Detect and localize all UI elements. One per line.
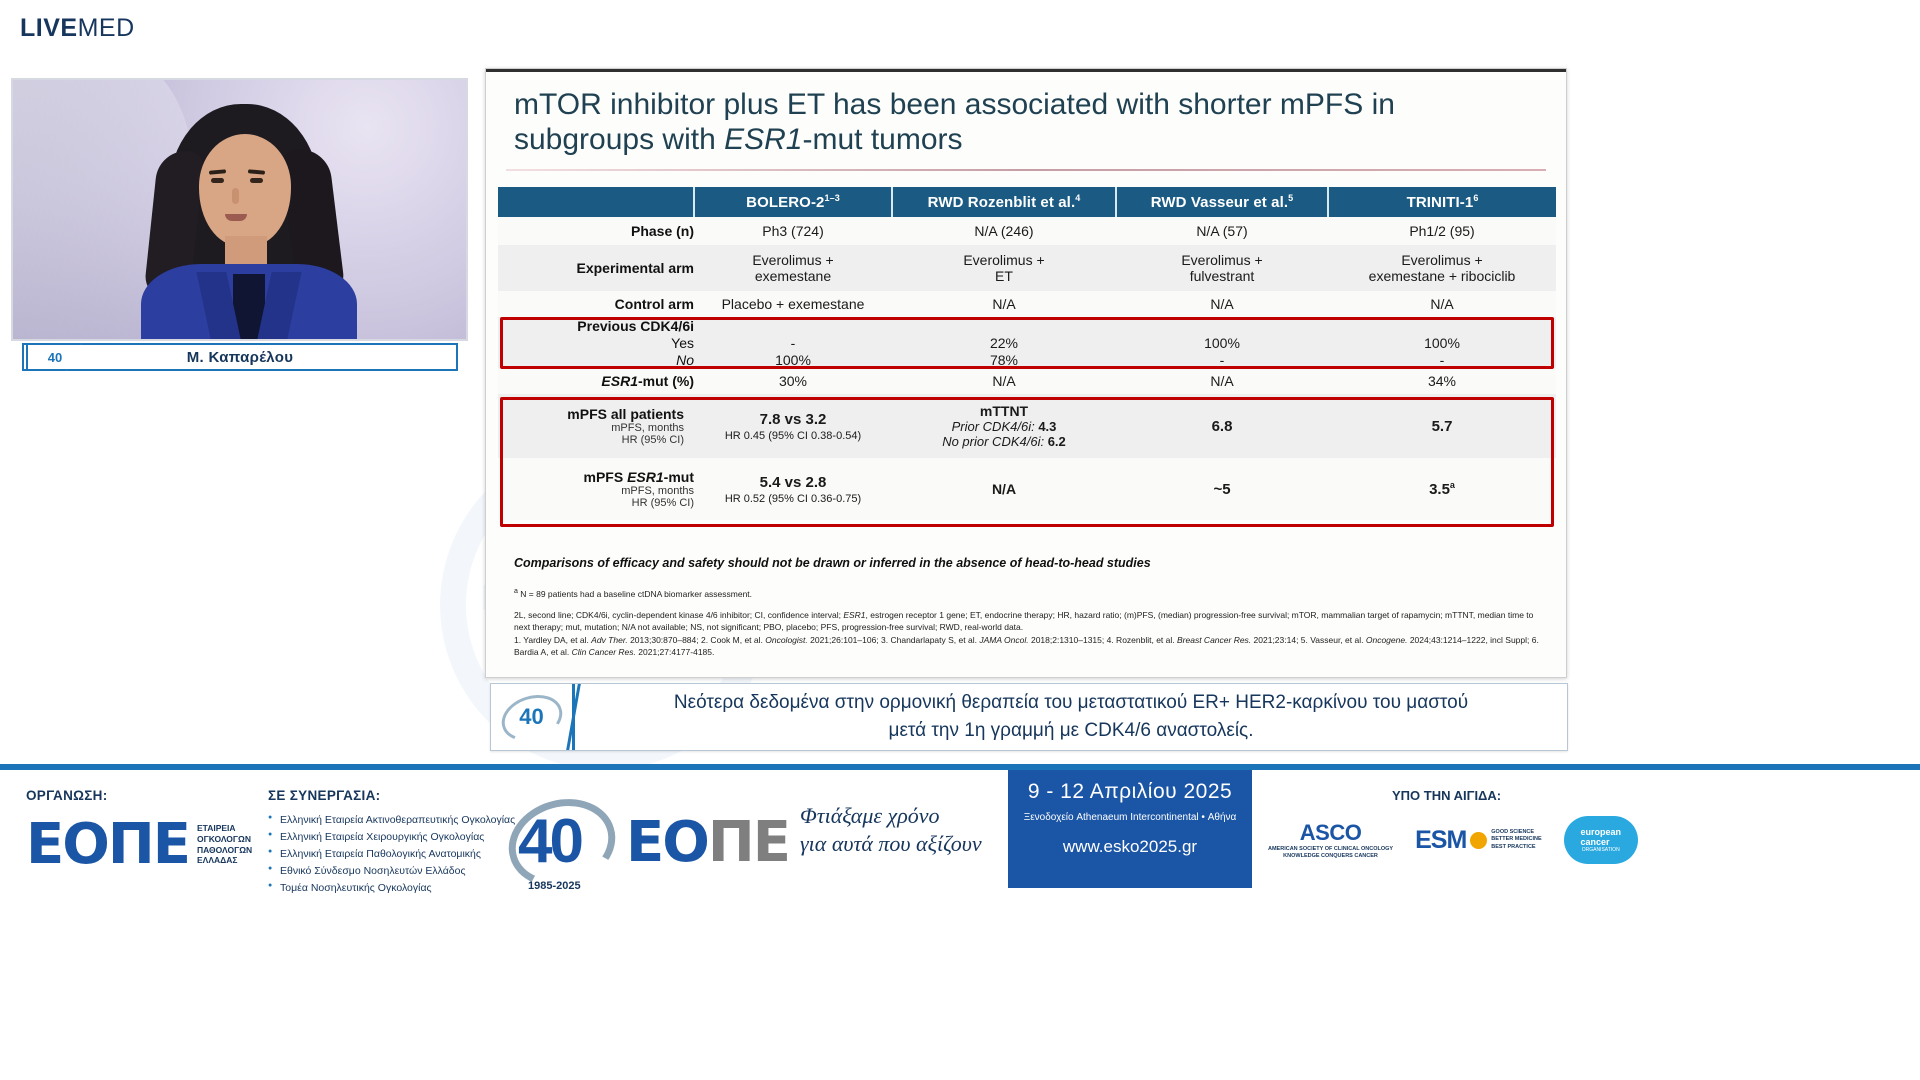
table-row-control-arm: Control arm Placebo + exemestane N/A N/A… (498, 291, 1556, 317)
caption-badge-icon: 40 (491, 684, 575, 750)
mpfs-esr1-rozenblit: N/A (892, 458, 1116, 520)
congress-url[interactable]: www.esko2025.gr (1016, 837, 1244, 857)
row-label-cdk-yes: Yes (498, 334, 694, 351)
asco-logo-name: ASCO (1268, 820, 1393, 846)
mpfs-all-sub1: mPFS, months (498, 422, 684, 434)
header-vasseur-label: RWD Vasseur et al. (1151, 194, 1288, 211)
cdk-yes-vasseur: 100% (1116, 334, 1328, 351)
footnote-a: a N = 89 patients had a baseline ctDNA b… (514, 587, 1548, 600)
ref-5-journal: Oncogene. (1366, 635, 1408, 645)
header-rozenblit-sup: 4 (1075, 193, 1080, 203)
congress-logo-name-eo: ΕΟ (626, 810, 708, 875)
exparm-rozenblit: Everolimus + ET (892, 245, 1116, 291)
slide-title-line2-pre: subgroups with (514, 123, 724, 156)
row-label-control-arm: Control arm (498, 291, 694, 317)
mpfs-all-bolero2-hr: HR 0.45 (95% CI 0.38-0.54) (694, 430, 892, 442)
cdk-yes-triniti1: 100% (1328, 334, 1556, 351)
caption-line1: Νεότερα δεδομένα στην ορμονική θεραπεία … (674, 692, 1468, 713)
table-row-phase: Phase (n) Ph3 (724) N/A (246) N/A (57) P… (498, 217, 1556, 245)
exparm-triniti1: Everolimus + exemestane + ribociclib (1328, 245, 1556, 291)
footer-slogan-line2: για αυτά που αξίζουν (800, 830, 1010, 858)
phase-vasseur: N/A (57) (1116, 217, 1328, 245)
ref-1-author: 1. Yardley DA, et al. (514, 635, 591, 645)
ref-4-cite: 2021;23:14; 5. Vasseur, et al. (1251, 635, 1363, 645)
exparm-vasseur: Everolimus + fulvestrant (1116, 245, 1328, 291)
cdk-yes-rozenblit: 22% (892, 334, 1116, 351)
row-label-phase: Phase (n) (498, 217, 694, 245)
eope-sub-3: ΠΑΘΟΛΟΓΩΝ (197, 845, 252, 856)
footer-aegis-logos: ASCO AMERICAN SOCIETY OF CLINICAL ONCOLO… (1268, 816, 1638, 864)
row-label-esr1-mut-pct: ESR1-mut (%) (498, 368, 694, 394)
cdk-title-spacer-4 (1328, 317, 1556, 334)
table-row-experimental-arm: Experimental arm Everolimus + exemestane… (498, 245, 1556, 291)
congress-logo-name: ΕΟΠΕ (626, 810, 789, 875)
mpfs-esr1-vasseur: ~5 (1116, 458, 1328, 520)
livemed-logo-live: LIVE (20, 14, 78, 42)
header-rozenblit: RWD Rozenblit et al.4 (892, 187, 1116, 217)
ctrlarm-bolero2: Placebo + exemestane (694, 291, 892, 317)
caption-badge-number: 40 (519, 704, 543, 730)
ref-4-journal: Breast Cancer Res. (1177, 635, 1251, 645)
ref-1-cite: 2013;30:870–884; 2. Cook M, et al. (628, 635, 766, 645)
footer-cooperation-list: Ελληνική Εταιρεία Ακτινοθεραπευτικής Ογκ… (268, 812, 515, 897)
esmo-logo-name: ESM (1415, 826, 1466, 855)
speaker-name: Μ. Καπαρέλου (187, 349, 294, 366)
mpfs-all-rozenblit: mTTNT Prior CDK4/6i: 4.3 No prior CDK4/6… (892, 394, 1116, 458)
comparison-table: BOLERO-21–3 RWD Rozenblit et al.4 RWD Va… (498, 187, 1556, 520)
ref-3-cite: 2018;2:1310–1315; 4. Rozenblit, et al. (1029, 635, 1177, 645)
eope-logo: ΕΟΠΕ ΕΤΑΙΡΕΙΑ ΟΓΚΟΛΟΓΩΝ ΠΑΘΟΛΟΓΩΝ ΕΛΛΑΔΑ… (26, 812, 252, 877)
slide-title-gene: ESR1 (724, 123, 802, 156)
speaker-figure (133, 104, 363, 341)
title-divider (506, 169, 1546, 171)
table-header-row: BOLERO-21–3 RWD Rozenblit et al.4 RWD Va… (498, 187, 1556, 217)
header-triniti1-sup: 6 (1473, 193, 1478, 203)
mpfs-esr1-sub1: mPFS, months (498, 485, 694, 497)
cdk-no-vasseur: - (1116, 351, 1328, 368)
mpfs-all-sub2: HR (95% CI) (498, 434, 684, 446)
congress-logo-number: 40 (518, 806, 581, 877)
eco-logo-subtitle: ORGANISATION (1582, 847, 1620, 853)
congress-date-box: 9 - 12 Απριλίου 2025 Ξενοδοχείο Athenaeu… (1008, 770, 1252, 888)
livemed-logo: LIVEMED (20, 14, 135, 43)
livemed-logo-med: MED (78, 14, 135, 42)
mpfs-esr1-bolero2: 5.4 vs 2.8 HR 0.52 (95% CI 0.36-0.75) (694, 458, 892, 520)
mpfs-all-triniti1: 5.7 (1328, 394, 1556, 458)
cdk-title-spacer-2 (892, 317, 1116, 334)
table-row-cdk-yes: Yes - 22% 100% 100% (498, 334, 1556, 351)
presentation-slide[interactable]: mTOR inhibitor plus ET has been associat… (485, 68, 1567, 678)
mpfs-all-bolero2-main: 7.8 vs 3.2 (694, 411, 892, 428)
mpfs-all-rozenblit-prior-label: Prior CDK4/6i: (952, 419, 1035, 434)
cdk-no-triniti1: - (1328, 351, 1556, 368)
mpfs-esr1-bolero2-hr: HR 0.52 (95% CI 0.36-0.75) (694, 493, 892, 505)
coop-item: Ελληνική Εταιρεία Χειρουργικής Ογκολογία… (268, 829, 515, 846)
congress-40-logo: 40 1985-2025 ΕΟΠΕ (508, 800, 808, 880)
table-row-cdk-title: Previous CDK4/6i (498, 317, 1556, 334)
slide-title: mTOR inhibitor plus ET has been associat… (514, 87, 1536, 158)
ctrlarm-rozenblit: N/A (892, 291, 1116, 317)
coop-item: Ελληνική Εταιρεία Ακτινοθεραπευτικής Ογκ… (268, 812, 515, 829)
footnote-abbreviations: 2L, second line; CDK4/6i, cyclin-depende… (514, 609, 1548, 634)
mpfs-all-rozenblit-title: mTTNT (892, 403, 1116, 419)
european-cancer-organisation-logo: european cancer ORGANISATION (1564, 816, 1638, 864)
header-vasseur-sup: 5 (1288, 193, 1293, 203)
footer-slogan: Φτιάξαμε χρόνο για αυτά που αξίζουν (800, 802, 1010, 857)
congress-venue: Ξενοδοχείο Athenaeum Intercontinental • … (1016, 812, 1244, 823)
mpfs-esr1-sub2: HR (95% CI) (498, 497, 694, 509)
row-label-cdk-no: No (498, 351, 694, 368)
congress-logo-years: 1985-2025 (528, 880, 581, 892)
speaker-nose (232, 188, 239, 204)
speaker-mouth (225, 214, 247, 221)
row-label-mpfs-esr1: mPFS ESR1-mut mPFS, months HR (95% CI) (498, 458, 694, 520)
eope-sub-1: ΕΤΑΙΡΕΙΑ (197, 823, 252, 834)
asco-logo: ASCO AMERICAN SOCIETY OF CLINICAL ONCOLO… (1268, 820, 1393, 860)
eope-logo-subtitle: ΕΤΑΙΡΕΙΑ ΟΓΚΟΛΟΓΩΝ ΠΑΘΟΛΟΓΩΝ ΕΛΛΑΔΑΣ (197, 823, 252, 866)
mpfs-esr1-bolero2-main: 5.4 vs 2.8 (694, 474, 892, 491)
esmo-logo-dot-icon (1470, 832, 1487, 849)
mpfs-all-vasseur: 6.8 (1116, 394, 1328, 458)
header-triniti1-label: TRINITI-1 (1407, 194, 1474, 211)
header-triniti1: TRINITI-16 (1328, 187, 1556, 217)
speaker-face (199, 134, 291, 246)
slide-title-line2-post: -mut tumors (803, 123, 963, 156)
row-label-mpfs-all: mPFS all patients mPFS, months HR (95% C… (498, 394, 694, 458)
header-blank (498, 187, 694, 217)
ref-1-journal: Adv Ther. (591, 635, 628, 645)
coop-item: Εθνικό Σύνδεσμο Νοσηλευτών Ελλάδος (268, 863, 515, 880)
slide-footnotes: a N = 89 patients had a baseline ctDNA b… (514, 587, 1548, 658)
exparm-bolero2: Everolimus + exemestane (694, 245, 892, 291)
slide-title-line1: mTOR inhibitor plus ET has been associat… (514, 88, 1395, 121)
table-row-mpfs-esr1: mPFS ESR1-mut mPFS, months HR (95% CI) 5… (498, 458, 1556, 520)
mpfs-all-rozenblit-prior-value: 4.3 (1038, 419, 1056, 434)
cdk-title-spacer-1 (694, 317, 892, 334)
mpfs-esr1-title-gene: ESR1 (627, 469, 664, 485)
esmo-logo: ESM GOOD SCIENCE BETTER MEDICINE BEST PR… (1415, 826, 1542, 855)
esr1pct-rozenblit: N/A (892, 368, 1116, 394)
slide-disclaimer: Comparisons of efficacy and safety shoul… (514, 556, 1538, 570)
eope-sub-4: ΕΛΛΑΔΑΣ (197, 855, 252, 866)
screen-root: LIVEMED 40 1985-2025 Μ. (0, 0, 1920, 1080)
speaker-nameplate: Μ. Καπαρέλου (22, 343, 458, 371)
esr1pct-vasseur: N/A (1116, 368, 1328, 394)
ref-2-journal: Oncologist. (765, 635, 808, 645)
session-caption-banner: 40 Νεότερα δεδομένα στην ορμονική θεραπε… (490, 683, 1568, 751)
row-label-experimental-arm: Experimental arm (498, 245, 694, 291)
coop-item: Ελληνική Εταιρεία Παθολογικής Ανατομικής (268, 846, 515, 863)
ctrlarm-triniti1: N/A (1328, 291, 1556, 317)
row-label-esr1-gene: ESR1 (601, 373, 638, 389)
footer-cooperation-label: ΣΕ ΣΥΝΕΡΓΑΣΙΑ: (268, 788, 380, 803)
cdk-yes-bolero2: - (694, 334, 892, 351)
eope-sub-2: ΟΓΚΟΛΟΓΩΝ (197, 834, 252, 845)
ref-2-cite: 2021;26:101–106; 3. Chandarlapaty S, et … (808, 635, 980, 645)
footnote-abbrev-part1: 2L, second line; CDK4/6i, cyclin-depende… (514, 610, 843, 620)
ref-6-cite: 2021;27:4177-4185. (636, 647, 714, 657)
cdk-no-rozenblit: 78% (892, 351, 1116, 368)
mpfs-all-bolero2: 7.8 vs 3.2 HR 0.45 (95% CI 0.38-0.54) (694, 394, 892, 458)
ref-3-journal: JAMA Oncol. (979, 635, 1028, 645)
mpfs-all-title: mPFS all patients (498, 406, 684, 422)
esr1pct-triniti1: 34% (1328, 368, 1556, 394)
mpfs-all-rozenblit-noprior-label: No prior CDK4/6i: (942, 434, 1044, 449)
eope-logo-mark: ΕΟΠΕ (26, 812, 189, 877)
header-rozenblit-label: RWD Rozenblit et al. (928, 194, 1076, 211)
mpfs-esr1-triniti1: 3.5a (1328, 458, 1556, 520)
speaker-eye-left (211, 178, 224, 183)
caption-text: Νεότερα δεδομένα στην ορμονική θεραπεία … (575, 689, 1567, 744)
footer: ΟΡΓΑΝΩΣΗ: ΕΟΠΕ ΕΤΑΙΡΕΙΑ ΟΓΚΟΛΟΓΩΝ ΠΑΘΟΛΟ… (0, 770, 1920, 1080)
footnote-a-text: N = 89 patients had a baseline ctDNA bio… (520, 589, 752, 599)
caption-line2: μετά την 1η γραμμή με CDK4/6 αναστολείς. (889, 720, 1254, 741)
table-row-cdk-no: No 100% 78% - - (498, 351, 1556, 368)
eco-logo-name: european cancer (1580, 827, 1621, 848)
coop-item: Τομέα Νοσηλευτικής Ογκολογίας (268, 880, 515, 897)
phase-rozenblit: N/A (246) (892, 217, 1116, 245)
phase-triniti1: Ph1/2 (95) (1328, 217, 1556, 245)
ref-6-journal: Clin Cancer Res. (572, 647, 636, 657)
congress-logo-name-pe: ΠΕ (708, 810, 789, 875)
speaker-eye-right (250, 178, 263, 183)
congress-date-range: 9 - 12 Απριλίου 2025 (1016, 780, 1244, 804)
table-row-esr1-mut-pct: ESR1-mut (%) 30% N/A N/A 34% (498, 368, 1556, 394)
header-bolero2: BOLERO-21–3 (694, 187, 892, 217)
mpfs-esr1-title-pre: mPFS (584, 469, 628, 485)
mpfs-esr1-triniti1-value: 3.5 (1429, 481, 1450, 498)
footer-aegis-label: ΥΠΟ ΤΗΝ ΑΙΓΙΔΑ: (1392, 788, 1501, 803)
mpfs-esr1-title-post: -mut (664, 469, 694, 485)
footer-slogan-line1: Φτιάξαμε χρόνο (800, 802, 1010, 830)
esr1pct-bolero2: 30% (694, 368, 892, 394)
header-vasseur: RWD Vasseur et al.5 (1116, 187, 1328, 217)
esmo-logo-subtitle: GOOD SCIENCE BETTER MEDICINE BEST PRACTI… (1491, 829, 1541, 850)
footnote-references: 1. Yardley DA, et al. Adv Ther. 2013;30:… (514, 634, 1548, 659)
nameplate-badge-number: 40 (48, 350, 62, 365)
table-row-mpfs-all: mPFS all patients mPFS, months HR (95% C… (498, 394, 1556, 458)
row-label-esr1-rest: -mut (%) (638, 373, 694, 389)
header-bolero2-sup: 1–3 (824, 193, 839, 203)
row-label-previous-cdk: Previous CDK4/6i (498, 317, 694, 334)
mpfs-esr1-triniti1-sup: a (1450, 480, 1455, 490)
cdk-no-bolero2: 100% (694, 351, 892, 368)
cdk-title-spacer-3 (1116, 317, 1328, 334)
mpfs-esr1-title: mPFS ESR1-mut (498, 469, 694, 485)
mpfs-all-rozenblit-noprior-value: 6.2 (1048, 434, 1066, 449)
footnote-abbrev-gene: ESR1 (843, 610, 865, 620)
ctrlarm-vasseur: N/A (1116, 291, 1328, 317)
header-bolero2-label: BOLERO-2 (746, 194, 824, 211)
footer-org-label: ΟΡΓΑΝΩΣΗ: (26, 788, 108, 803)
phase-bolero2: Ph3 (724) (694, 217, 892, 245)
speaker-video[interactable] (11, 78, 468, 341)
asco-logo-subtitle: AMERICAN SOCIETY OF CLINICAL ONCOLOGY KN… (1268, 846, 1393, 860)
